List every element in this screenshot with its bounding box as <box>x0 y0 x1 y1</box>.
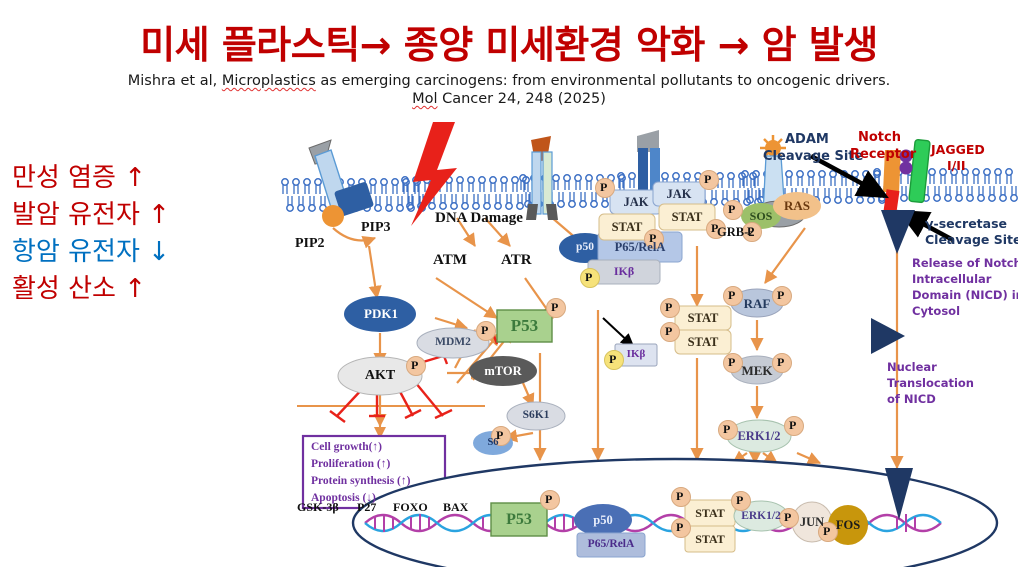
akt-to-outcome <box>297 406 485 438</box>
phospho-label: P <box>411 358 418 373</box>
label-pdk1: PDK1 <box>345 306 417 322</box>
label-nicd-translocation-1: Nuclear <box>887 360 937 374</box>
key-point-oncogene: 발암 유전자 ↑ <box>12 197 252 234</box>
label-akt: AKT <box>344 368 416 384</box>
phospho-label: P <box>711 221 718 236</box>
citation-author: Mishra et al, <box>128 73 222 89</box>
label-nicd-release-4: Cytosol <box>912 304 960 318</box>
nicd-triangle-2 <box>871 318 905 354</box>
key-point-tumor-suppressor: 항암 유전자 ↓ <box>12 234 252 271</box>
label-atm: ATM <box>433 252 467 269</box>
key-point-ros: 활성 산소 ↑ <box>12 271 252 308</box>
phospho-label: P <box>665 324 672 339</box>
phospho-label: P <box>649 231 656 246</box>
label-mtor: mTOR <box>467 364 539 379</box>
phospho-label: P <box>728 288 735 303</box>
outcome-line-1: Cell growth(↑) <box>311 441 382 453</box>
nucleus-label-fos: FOS <box>830 518 866 533</box>
phospho-label: P <box>704 172 711 187</box>
phospho-label: P <box>481 323 488 338</box>
phospho-label: P <box>723 422 730 437</box>
label-notch: Notch <box>858 130 901 145</box>
label-pip3: PIP3 <box>361 220 391 236</box>
label-stat-1: STAT <box>599 220 655 235</box>
citation-title: as emerging carcinogens: from environmen… <box>316 73 890 89</box>
label-p53: P53 <box>497 316 552 336</box>
ikb-release-arrow <box>603 318 633 346</box>
nucleus-label-erk: ERK1/2 <box>733 510 789 522</box>
label-s6: S6 <box>475 437 511 448</box>
label-bax: BAX <box>443 500 468 515</box>
nicd-triangle-1 <box>881 210 915 254</box>
phospho-label: P <box>676 489 683 504</box>
phospho-label: P <box>728 202 735 217</box>
label-jagged: JAGGED <box>931 142 985 157</box>
citation-volume: Cancer 24, 248 (2025) <box>437 91 605 107</box>
label-mek: MEK <box>737 363 777 379</box>
label-stat-dimer-2: STAT <box>675 335 731 350</box>
phospho-label: P <box>736 493 743 508</box>
outcome-line-3: Protein synthesis (↑) <box>311 475 410 487</box>
outcome-line-4: Apoptosis (↓) <box>311 492 376 504</box>
citation-journal: Mol <box>412 91 437 107</box>
key-points-list: 만성 염증 ↑ 발암 유전자 ↑ 항암 유전자 ↓ 활성 산소 ↑ <box>12 160 252 308</box>
phospho-label: P <box>777 288 784 303</box>
label-atr: ATR <box>501 252 532 269</box>
page-title: 미세 플라스틱→ 종양 미세환경 악화 → 암 발생 <box>0 14 1018 69</box>
phospho-label: P <box>600 180 607 195</box>
label-nicd-release-3: Domain (NICD) in <box>912 288 1018 302</box>
phospho-label: P <box>777 355 784 370</box>
phospho-label: P <box>665 300 672 315</box>
label-ras: RAS <box>777 198 817 214</box>
label-sos: SOS <box>741 209 781 224</box>
label-nicd-release-2: Intracellular <box>912 272 991 286</box>
phospho-label: P <box>728 355 735 370</box>
label-p65-rela: P65/RelA <box>598 240 682 255</box>
label-erk: ERK1/2 <box>729 429 789 444</box>
label-dna-damage: DNA Damage <box>435 210 523 227</box>
label-mdm2: MDM2 <box>417 336 489 348</box>
label-nicd-translocation-3: of NICD <box>887 392 936 406</box>
phospho-label: P <box>823 524 830 539</box>
label-jak-2: JAK <box>653 187 705 202</box>
citation-line-1: Mishra et al, Microplastics as emerging … <box>60 72 958 91</box>
label-nicd-translocation-2: Translocation <box>887 376 974 390</box>
label-pip2: PIP2 <box>295 236 325 252</box>
phospho-label: P <box>551 300 558 315</box>
nucleus-label-stat-1: STAT <box>685 506 735 521</box>
rtk-receptor-left <box>309 140 374 227</box>
signaling-pathway-diagram: PIP2 PIP3 DNA Damage ATM ATR PDK1 AKT MD… <box>285 128 1018 538</box>
outcome-line-2: Proliferation (↑) <box>311 458 390 470</box>
label-adam: ADAM <box>785 132 829 147</box>
label-s6k1: S6K1 <box>506 409 566 421</box>
phospho-label: P <box>609 352 616 367</box>
label-stat-2: STAT <box>659 210 715 225</box>
phospho-label: P <box>676 520 683 535</box>
phospho-label: P <box>789 418 796 433</box>
label-ikb-bound: IKβ <box>588 264 660 279</box>
label-gamma-cleavage-site: Cleavage Site <box>925 232 1018 247</box>
nucleus-label-stat-2: STAT <box>685 532 735 547</box>
label-jagged-type: I/II <box>947 158 966 173</box>
label-ikb-free: IKβ <box>615 348 657 360</box>
phospho-label: P <box>585 270 592 285</box>
citation-microplastics: Microplastics <box>222 73 316 89</box>
label-raf: RAF <box>737 296 777 312</box>
label-notch-receptor: Receptor <box>850 147 916 162</box>
label-nicd-release-1: Release of Notch <box>912 256 1018 270</box>
key-point-inflammation: 만성 염증 ↑ <box>12 160 252 197</box>
phospho-label: P <box>496 428 503 443</box>
phospho-label: P <box>545 492 552 507</box>
label-foxo: FOXO <box>393 500 428 515</box>
label-stat-dimer-1: STAT <box>675 311 731 326</box>
nucleus-label-p50: p50 <box>583 513 623 528</box>
label-adam-cleavage-site: Cleavage Site <box>763 149 863 164</box>
slide-root: 미세 플라스틱→ 종양 미세환경 악화 → 암 발생 Mishra et al,… <box>0 0 1018 567</box>
phospho-label: P <box>784 510 791 525</box>
nucleus-label-p65: P65/RelA <box>577 538 645 550</box>
citation-line-2: Mol Cancer 24, 248 (2025) <box>60 91 958 107</box>
nucleus-label-p53: P53 <box>491 511 547 529</box>
label-gamma-secretase: γ-secretase <box>925 216 1007 231</box>
phospho-label: P <box>747 224 754 239</box>
